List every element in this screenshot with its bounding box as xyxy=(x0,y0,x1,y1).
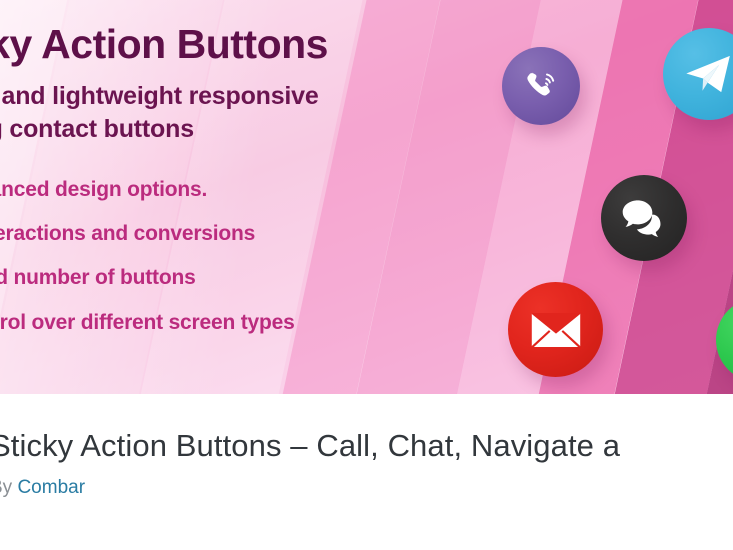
banner-feature-1: 100 advanced design options. xyxy=(0,168,474,212)
telegram-icon xyxy=(663,28,733,120)
banner-headline: Sticky Action Buttons xyxy=(0,22,474,66)
banner-text-group: Sticky Action Buttons Simple and lightwe… xyxy=(0,22,474,345)
plugin-banner: Sticky Action Buttons Simple and lightwe… xyxy=(0,0,733,394)
byline-prefix: By xyxy=(0,477,17,498)
chat-icon xyxy=(601,175,687,261)
plugin-byline: By Combar xyxy=(0,477,85,499)
viber-icon xyxy=(502,47,580,125)
banner-subline-2: floating contact buttons xyxy=(0,113,474,146)
email-icon xyxy=(508,282,603,377)
whatsapp-icon xyxy=(716,298,733,382)
banner-feature-4: Full control over different screen types xyxy=(0,301,474,345)
banner-subline-group: Simple and lightweight responsive floati… xyxy=(0,80,474,146)
banner-subline-1: Simple and lightweight responsive xyxy=(0,80,474,113)
plugin-author-link[interactable]: Combar xyxy=(17,477,85,498)
plugin-info-section: Sticky Action Buttons – Call, Chat, Navi… xyxy=(0,394,733,550)
banner-feature-list: 100 advanced design options. More intera… xyxy=(0,168,474,344)
banner-feature-2: More interactions and conversions xyxy=(0,212,474,256)
plugin-title[interactable]: Sticky Action Buttons – Call, Chat, Navi… xyxy=(0,428,620,464)
plugin-card-screenshot: Sticky Action Buttons Simple and lightwe… xyxy=(0,0,733,550)
banner-feature-3: Unlimited number of buttons xyxy=(0,256,474,300)
